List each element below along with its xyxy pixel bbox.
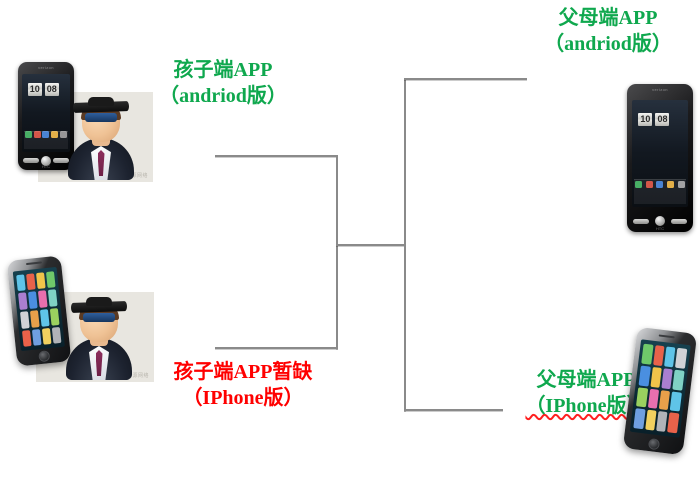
home-button-parent-iphone [647, 438, 659, 450]
connector-center-link [336, 244, 406, 246]
connector-right-bottom-arm [404, 409, 503, 411]
connector-left-top-arm [215, 155, 338, 157]
diagram-canvas: 图片 来源网络 verizon 10 08 HTC [0, 0, 700, 490]
label-parent-android-line1: 父母端APP [528, 6, 688, 32]
graduate-avatar-child-iphone [60, 292, 138, 380]
label-child-android-line1: 孩子端APP [148, 58, 298, 84]
label-child-iphone-line2: （IPhone版） [148, 386, 338, 412]
phone-screen-child-iphone [13, 267, 65, 352]
label-child-android: 孩子端APP （andriod版） [148, 58, 298, 109]
connector-left-bottom-arm [215, 347, 338, 349]
phone-brand-bottom-child-android: HTC [42, 164, 50, 169]
iphone-parent [623, 327, 697, 455]
clock-widget-parent-android: 10 08 [638, 113, 669, 126]
phone-screen-parent-android: 10 08 [632, 100, 689, 207]
phone-brand-bottom-parent-android: HTC [656, 226, 664, 231]
phone-hardware-keys-parent-android [633, 216, 687, 226]
connector-right-vertical [404, 78, 406, 411]
clock-hours: 10 [638, 113, 652, 126]
label-child-iphone: 孩子端APP暂缺 （IPhone版） [148, 360, 338, 411]
phone-screen-parent-iphone [630, 340, 690, 438]
home-button-child-iphone [38, 350, 50, 362]
connector-right-top-arm [404, 78, 527, 80]
clock-minutes: 08 [655, 113, 669, 126]
label-child-iphone-line1: 孩子端APP暂缺 [148, 360, 338, 386]
label-parent-android-line2: （andriod版） [528, 32, 688, 58]
label-child-android-line2: （andriod版） [148, 84, 298, 110]
connector-left-vertical [336, 155, 338, 349]
label-parent-android: 父母端APP （andriod版） [528, 6, 688, 57]
android-phone-parent: verizon 10 08 HTC [627, 84, 693, 232]
graduate-avatar-child-android [62, 92, 140, 180]
phone-brand-top-child-android: verizon [38, 65, 54, 70]
phone-brand-top-parent-android: verizon [652, 87, 668, 92]
clock-widget-child-android: 10 08 [28, 83, 59, 96]
